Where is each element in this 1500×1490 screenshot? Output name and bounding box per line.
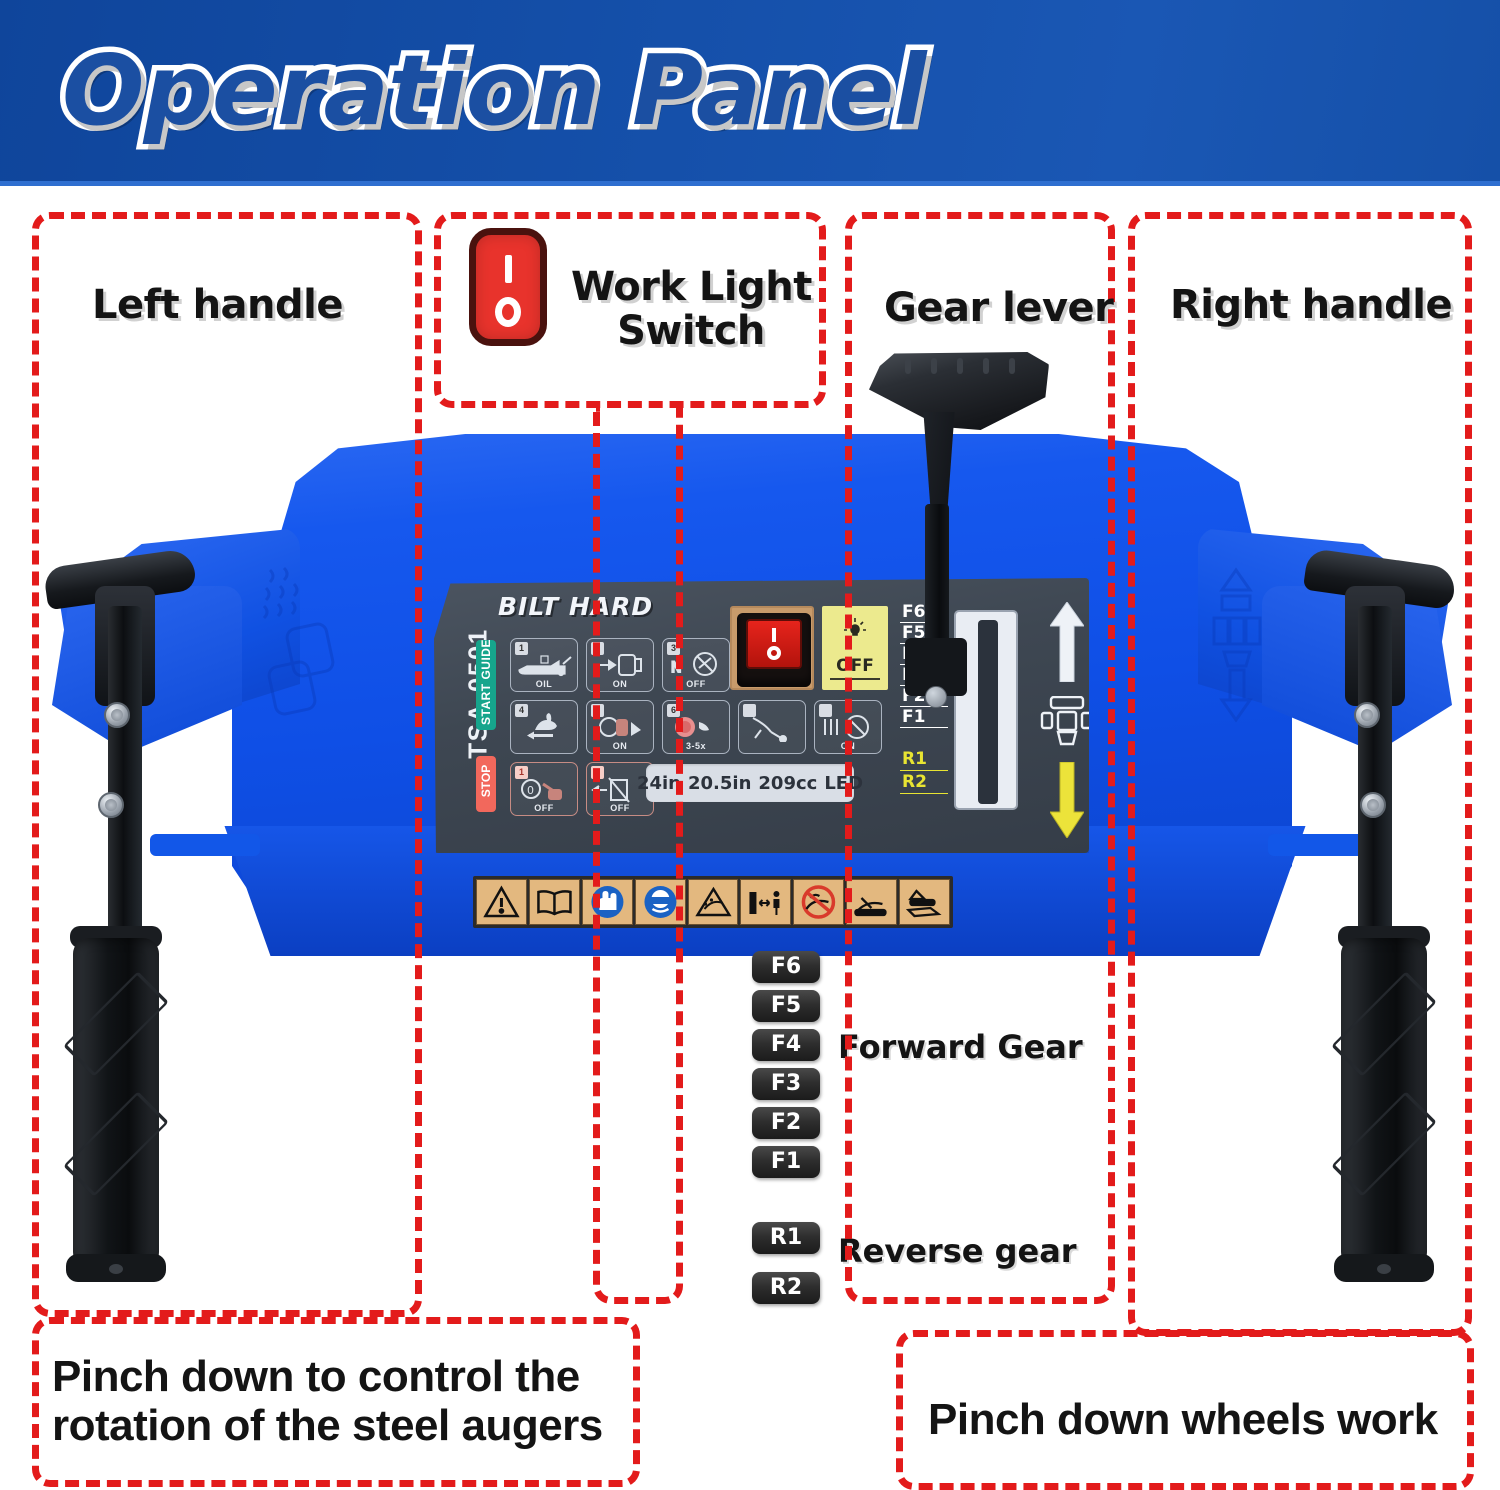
badge-f6: F6	[752, 951, 820, 983]
callout-label-gear-lever: Gear lever	[884, 285, 1113, 331]
work-light-line2: Switch	[617, 308, 765, 354]
warning-triangle-icon	[476, 879, 527, 925]
rocker-off-symbol	[767, 646, 781, 660]
rabbit-throttle-icon	[511, 712, 577, 742]
stop-label: STOP	[479, 753, 493, 809]
start-guide-bar: START GUIDE	[476, 640, 496, 730]
work-light-line1: Work Light	[571, 264, 812, 310]
caption-left-handle: Pinch down to control the rotation of th…	[52, 1352, 632, 1451]
caption-left-line1: Pinch down to control the	[52, 1352, 580, 1401]
stop-tile-key-off: 1 0 OFF	[510, 762, 578, 816]
no-hands-auger-icon	[793, 879, 844, 925]
spec-height: 20.5in	[688, 773, 751, 794]
badge-r1: R1	[752, 1222, 820, 1254]
keep-distance-icon	[740, 879, 791, 925]
ignition-rocker-switch[interactable]	[737, 613, 811, 687]
guide-tile-recoil	[738, 700, 806, 754]
start-guide-label: START GUIDE	[479, 637, 493, 727]
guide-tile-throttle: 4	[510, 700, 578, 754]
callout-box-right-handle	[1128, 212, 1472, 1336]
stop-bar: STOP	[476, 756, 496, 812]
recoil-pull-icon	[739, 712, 805, 742]
tile-caption: OFF	[511, 803, 577, 813]
rocker-red-face[interactable]	[746, 619, 802, 669]
badge-f1: F1	[752, 1146, 820, 1178]
callout-box-gear-lever	[845, 212, 1115, 1304]
badge-f5: F5	[752, 990, 820, 1022]
callout-box-left-handle	[32, 212, 422, 1317]
oil-can-icon	[511, 650, 577, 680]
caption-right-handle: Pinch down wheels work	[928, 1395, 1438, 1444]
guide-tile-oil: 1 OIL	[510, 638, 578, 692]
key-off-icon: 0	[511, 774, 577, 804]
tile-caption: OIL	[511, 679, 577, 689]
callout-connector-work-light	[593, 404, 683, 1304]
badge-f4: F4	[752, 1029, 820, 1061]
spec-engine: 209cc	[758, 773, 817, 794]
ignition-rocker-frame	[730, 606, 814, 690]
page-title: Operation Panel	[62, 34, 926, 147]
page-header: Operation Panel	[0, 0, 1500, 186]
thrown-objects-icon	[688, 879, 739, 925]
svg-text:0: 0	[527, 784, 534, 797]
callout-label-left-handle: Left handle	[92, 282, 343, 328]
caption-left-line2: rotation of the steel augers	[52, 1401, 603, 1450]
callout-label-right-handle: Right handle	[1170, 282, 1452, 328]
callout-label-work-light-switch: Work Light Switch	[571, 265, 811, 353]
badge-f2: F2	[752, 1107, 820, 1139]
switch-on-symbol	[505, 255, 512, 283]
badge-f3: F3	[752, 1068, 820, 1100]
rocker-on-symbol	[772, 628, 776, 642]
badge-r2: R2	[752, 1272, 820, 1304]
work-light-switch-icon[interactable]	[469, 228, 547, 346]
switch-off-symbol	[495, 297, 521, 327]
read-manual-icon	[529, 879, 580, 925]
